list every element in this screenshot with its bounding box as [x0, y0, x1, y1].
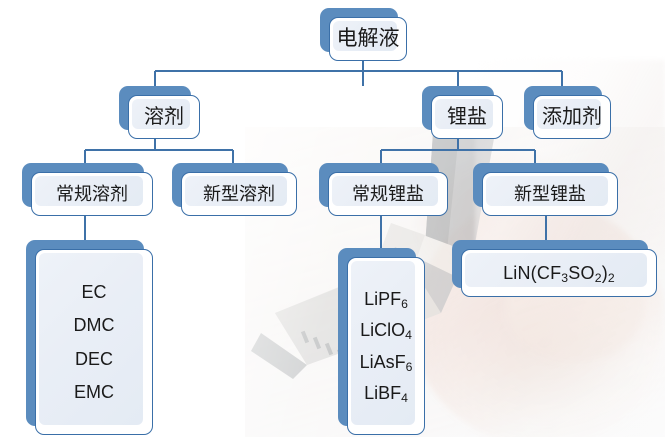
node-label: 锂盐: [447, 105, 487, 130]
node-face: LiN(CF3SO2)2: [461, 249, 657, 297]
solvent-list: EC DMC DEC EMC: [74, 277, 115, 408]
node-lithium-salt[interactable]: 锂盐: [422, 86, 494, 130]
node-label: 添加剂: [542, 105, 602, 130]
node-label: 溶剂: [144, 105, 184, 130]
hand-shape: [413, 199, 663, 437]
node-conventional-lithium-salt[interactable]: 常规锂盐: [319, 163, 439, 207]
node-label: 新型锂盐: [514, 183, 586, 206]
node-face: 新型溶剂: [181, 172, 297, 216]
node-new-lithium-salt[interactable]: 新型锂盐: [473, 163, 609, 207]
node-label: 常规溶剂: [56, 183, 128, 206]
node-face: 常规锂盐: [328, 172, 448, 216]
list-item: LiAsF6: [360, 351, 413, 374]
node-electrolyte[interactable]: 电解液: [320, 8, 398, 52]
leaf-conventional-lithium-salts[interactable]: LiPF6 LiClO4 LiAsF6 LiBF4: [338, 248, 416, 426]
list-item: EC: [74, 281, 115, 304]
node-face: 电解液: [329, 17, 407, 61]
node-face: LiPF6 LiClO4 LiAsF6 LiBF4: [347, 257, 425, 435]
list-item: LiPF6: [360, 288, 413, 311]
salt-list: LiPF6 LiClO4 LiAsF6 LiBF4: [360, 284, 413, 409]
node-solvent[interactable]: 溶剂: [119, 86, 191, 130]
node-face: 常规溶剂: [31, 172, 153, 216]
node-conventional-solvent[interactable]: 常规溶剂: [22, 163, 144, 207]
leaf-conventional-solvents[interactable]: EC DMC DEC EMC: [26, 240, 144, 426]
diagram-canvas: 电解液 溶剂 锂盐 添加剂 常规溶剂: [0, 0, 665, 437]
list-item: LiClO4: [360, 319, 413, 342]
node-face: EC DMC DEC EMC: [35, 249, 153, 435]
list-item: DMC: [74, 314, 115, 337]
node-additive[interactable]: 添加剂: [524, 86, 602, 130]
node-label: 电解液: [337, 26, 400, 52]
node-label: 常规锂盐: [352, 183, 424, 206]
node-face: 锂盐: [431, 95, 503, 139]
list-item: EMC: [74, 381, 115, 404]
list-item: DEC: [74, 348, 115, 371]
list-item: LiBF4: [360, 382, 413, 405]
node-face: 溶剂: [128, 95, 200, 139]
node-face: 新型锂盐: [482, 172, 618, 216]
node-face: 添加剂: [533, 95, 611, 139]
formula-label: LiN(CF3SO2)2: [503, 262, 615, 285]
leaf-new-lithium-salt-formula[interactable]: LiN(CF3SO2)2: [452, 240, 648, 288]
node-label: 新型溶剂: [203, 183, 275, 206]
node-new-solvent[interactable]: 新型溶剂: [172, 163, 288, 207]
